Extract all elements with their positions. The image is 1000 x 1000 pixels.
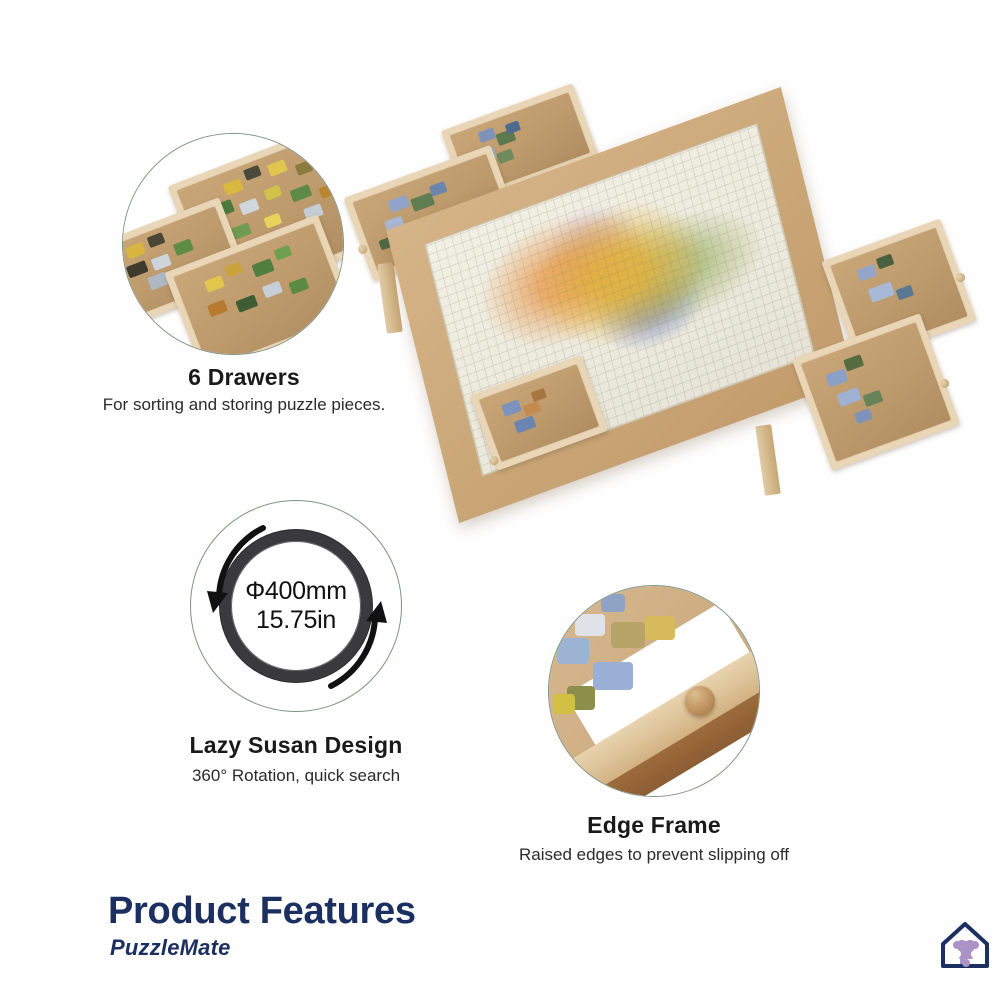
feature-image-edge-frame [548, 585, 760, 797]
hero-product-image [330, 95, 950, 515]
feature-subtitle-lazy-susan: 360° Rotation, quick search [146, 766, 446, 786]
infographic-canvas: 6 Drawers For sorting and storing puzzle… [0, 0, 1000, 1000]
dimension-mm: Φ400mm [245, 577, 347, 606]
page-title: Product Features [108, 890, 416, 933]
lazy-susan-dimensions: Φ400mm 15.75in [245, 577, 347, 635]
feature-title-edge-frame: Edge Frame [524, 812, 784, 839]
feature-title-lazy-susan: Lazy Susan Design [146, 732, 446, 759]
house-puzzle-logo-icon [938, 918, 992, 972]
hero-table-leg-right [755, 424, 781, 496]
feature-subtitle-drawers: For sorting and storing puzzle pieces. [64, 395, 424, 415]
feature-title-drawers: 6 Drawers [124, 364, 364, 391]
feature-image-lazy-susan: Φ400mm 15.75in [190, 500, 402, 712]
feature-image-drawers [122, 133, 344, 355]
feature-subtitle-edge-frame: Raised edges to prevent slipping off [494, 845, 814, 865]
brand-name: PuzzleMate [110, 935, 231, 961]
dimension-in: 15.75in [245, 606, 347, 635]
edge-frame-knob [685, 686, 715, 716]
